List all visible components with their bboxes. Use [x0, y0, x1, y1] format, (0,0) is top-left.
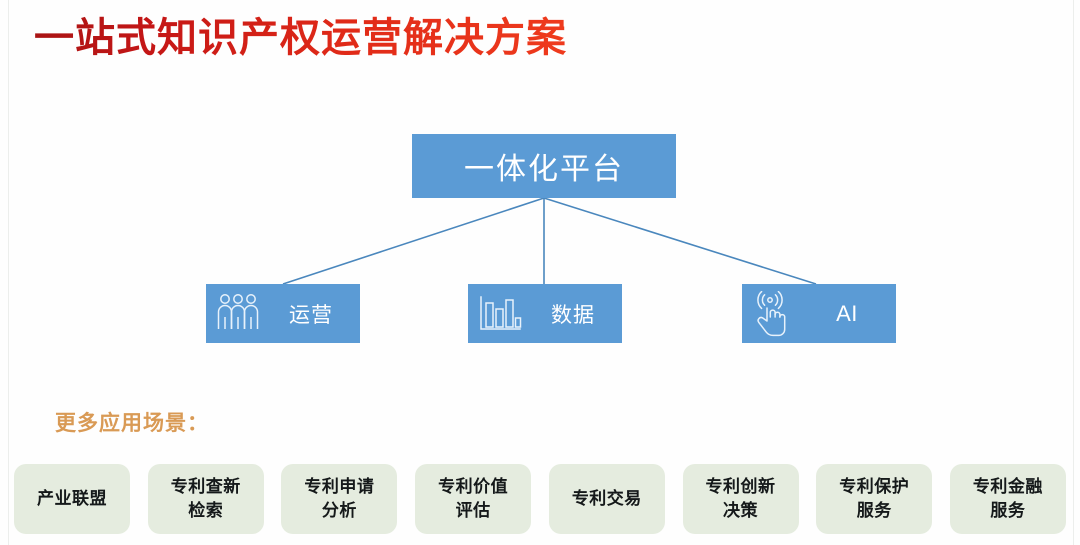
three-people-icon	[214, 291, 262, 337]
platform-diagram: 一体化平台 运营	[0, 0, 1080, 460]
node-data[interactable]: 数据	[468, 284, 622, 343]
scenario-chip[interactable]: 产业联盟	[14, 464, 130, 534]
scenario-chip-row: 产业联盟 专利查新 检索 专利申请 分析 专利价值 评估 专利交易 专利创新 决…	[14, 464, 1066, 534]
node-operations-label: 运营	[268, 299, 360, 329]
scenario-chip[interactable]: 专利申请 分析	[281, 464, 397, 534]
touch-hand-icon	[750, 291, 798, 337]
scenario-chip[interactable]: 专利交易	[549, 464, 665, 534]
scenario-chip-label: 专利交易	[572, 487, 642, 511]
scenario-chip[interactable]: 专利保护 服务	[816, 464, 932, 534]
scenario-chip-label: 专利金融 服务	[973, 475, 1043, 523]
scenario-chip-label: 专利保护 服务	[839, 475, 909, 523]
node-ai-label: AI	[804, 301, 896, 327]
scenario-chip-label: 专利查新 检索	[171, 475, 241, 523]
node-ai[interactable]: AI	[742, 284, 896, 343]
node-data-label: 数据	[530, 299, 622, 329]
slide-canvas: 一站式知识产权运营解决方案 一体化平台 运营	[0, 0, 1080, 545]
diagram-connectors	[0, 0, 1080, 460]
node-operations[interactable]: 运营	[206, 284, 360, 343]
node-integrated-platform[interactable]: 一体化平台	[412, 134, 676, 198]
scenario-chip[interactable]: 专利价值 评估	[415, 464, 531, 534]
scenario-chip[interactable]: 专利金融 服务	[950, 464, 1066, 534]
scenario-chip[interactable]: 专利查新 检索	[148, 464, 264, 534]
more-scenarios-caption: 更多应用场景：	[55, 407, 209, 437]
scenario-chip-label: 专利价值 评估	[438, 475, 508, 523]
node-integrated-platform-label: 一体化平台	[464, 144, 624, 188]
scenario-chip[interactable]: 专利创新 决策	[683, 464, 799, 534]
bar-chart-icon	[476, 291, 524, 337]
scenario-chip-label: 专利申请 分析	[304, 475, 374, 523]
scenario-chip-label: 产业联盟	[37, 487, 107, 511]
scenario-chip-label: 专利创新 决策	[706, 475, 776, 523]
